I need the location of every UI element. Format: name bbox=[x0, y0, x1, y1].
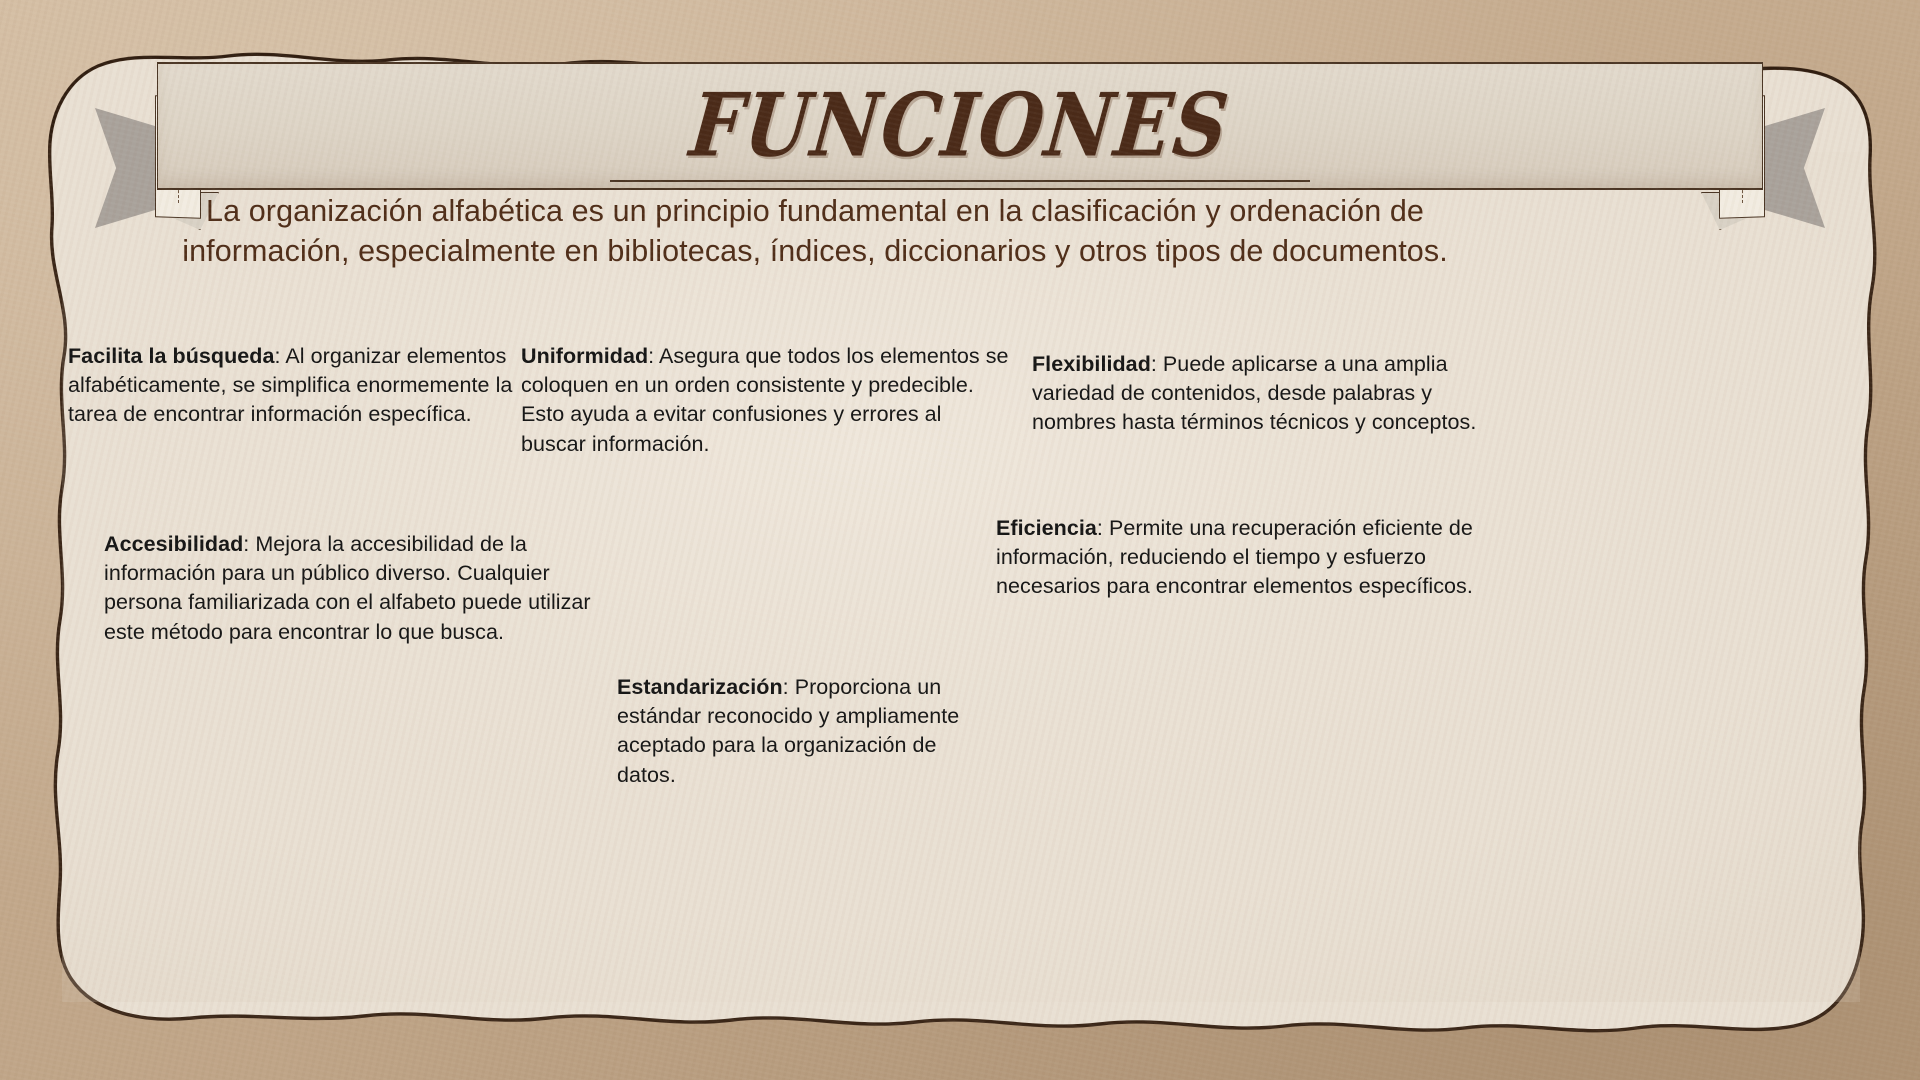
text-block-estandarizacion: Estandarización: Proporciona un estándar… bbox=[617, 673, 992, 790]
separator-4: : bbox=[1097, 516, 1109, 540]
term-eficiencia: Eficiencia bbox=[996, 516, 1097, 540]
text-block-facilita-la-busqueda: Facilita la búsqueda: Al organizar eleme… bbox=[68, 342, 520, 430]
term-uniformidad: Uniformidad bbox=[521, 344, 648, 368]
text-block-eficiencia: Eficiencia: Permite una recuperación efi… bbox=[996, 514, 1494, 602]
separator-0: : bbox=[275, 344, 286, 368]
slide-background: FUNCIONES La organización alfabética es … bbox=[0, 0, 1920, 1080]
separator-2: : bbox=[1151, 352, 1163, 376]
text-block-uniformidad: Uniformidad: Asegura que todos los eleme… bbox=[521, 342, 1011, 459]
term-estandarizacion: Estandarización bbox=[617, 675, 783, 699]
term-accesibilidad: Accesibilidad bbox=[104, 532, 243, 556]
separator-3: : bbox=[243, 532, 255, 556]
ribbon-band: FUNCIONES bbox=[157, 62, 1763, 190]
text-block-accesibilidad: Accesibilidad: Mejora la accesibilidad d… bbox=[104, 530, 594, 647]
subtitle-paragraph: La organización alfabética es un princip… bbox=[160, 192, 1470, 271]
separator-1: : bbox=[648, 344, 659, 368]
term-flexibilidad: Flexibilidad bbox=[1032, 352, 1151, 376]
separator-5: : bbox=[783, 675, 795, 699]
title-ribbon: FUNCIONES bbox=[95, 62, 1825, 202]
title-underline bbox=[610, 179, 1310, 182]
term-facilita-la-busqueda: Facilita la búsqueda bbox=[68, 344, 275, 368]
page-title: FUNCIONES bbox=[686, 82, 1233, 169]
text-block-flexibilidad: Flexibilidad: Puede aplicarse a una ampl… bbox=[1032, 350, 1507, 438]
